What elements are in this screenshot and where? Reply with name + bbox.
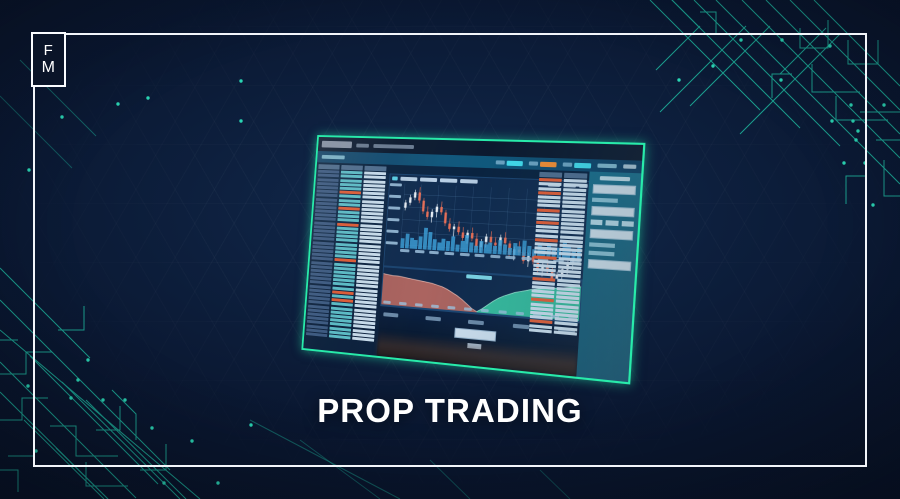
- order-label-1: [592, 198, 618, 203]
- orderbook-left[interactable]: [303, 162, 388, 355]
- orderbook-col1-header: [318, 164, 339, 169]
- fm-logo: F M: [31, 32, 66, 87]
- orderbook-right-col2-header: [564, 173, 587, 179]
- menu-item-2[interactable]: [373, 144, 414, 149]
- order-entry-title: [600, 176, 630, 181]
- orderbook-col3-header: [364, 166, 386, 172]
- menu-item-1[interactable]: [356, 143, 369, 147]
- order-label-3: [588, 251, 614, 257]
- ticker-item-3: [563, 162, 592, 168]
- ticker-item-1: [496, 160, 523, 166]
- order-label-2: [589, 242, 615, 248]
- trading-terminal-image: [296, 138, 632, 366]
- terminal-screen: [301, 135, 645, 384]
- search-input[interactable]: [322, 141, 352, 148]
- promo-graphic: F M: [0, 0, 900, 499]
- orderbook-right-col1-header: [539, 172, 562, 178]
- place-order-button[interactable]: [588, 259, 632, 271]
- order-price-input[interactable]: [592, 184, 636, 195]
- fm-logo-letter-m: M: [42, 60, 56, 76]
- orderbook-col2-header: [341, 165, 363, 171]
- order-amount-input[interactable]: [591, 206, 635, 217]
- order-percent-buttons[interactable]: [590, 219, 633, 226]
- pair-label: [322, 155, 345, 160]
- settings-icon[interactable]: [623, 164, 636, 169]
- order-total-input[interactable]: [590, 229, 634, 241]
- page-title: PROP TRADING: [0, 392, 900, 430]
- account-label[interactable]: [597, 164, 617, 169]
- ticker-item-2: [529, 161, 557, 167]
- fm-logo-letter-f: F: [44, 43, 54, 58]
